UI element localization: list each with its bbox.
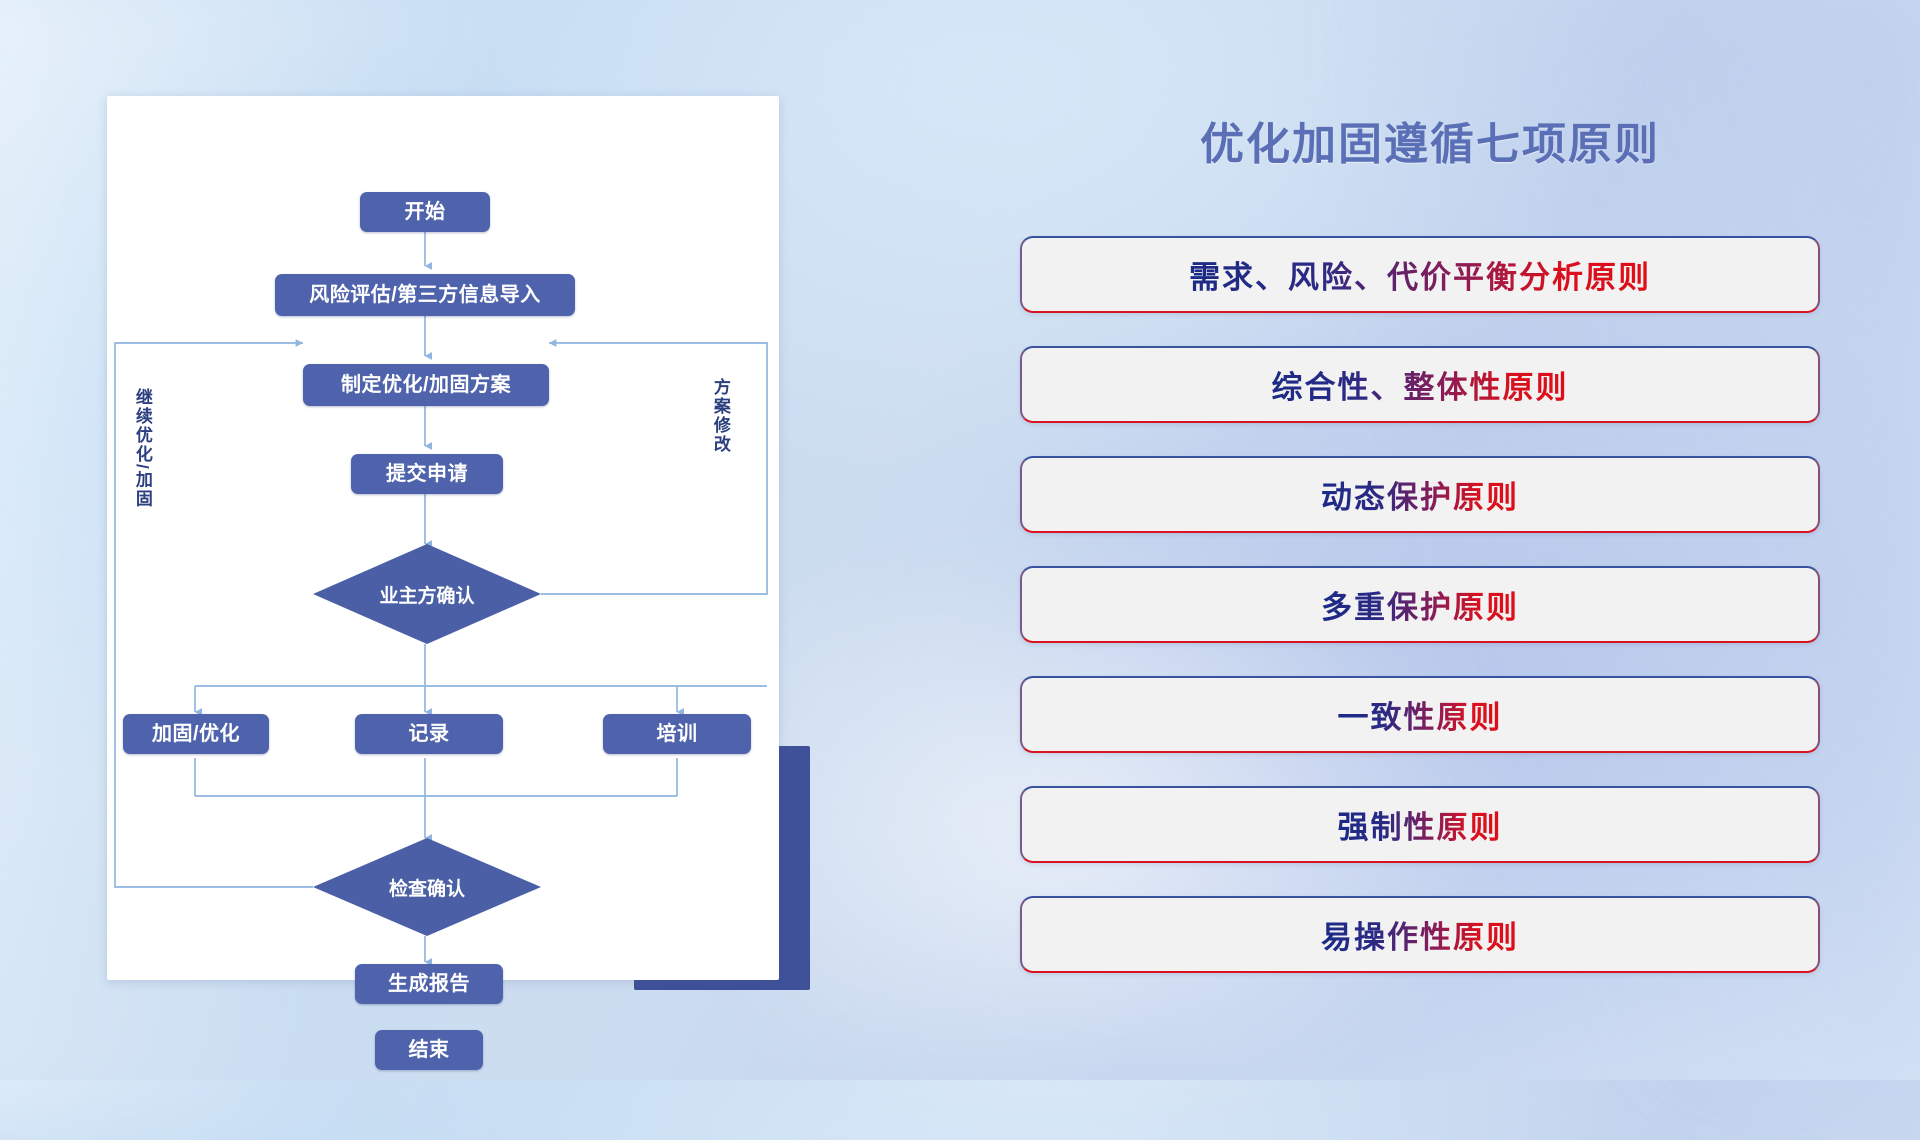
flow-edge-label-left-loop: 继续优化/加固 [133, 388, 151, 509]
principle-card-label: 多重保护原则 [1321, 582, 1519, 627]
flow-node-end[interactable]: 结束 [375, 1030, 483, 1070]
principle-card[interactable]: 易操作性原则 [1020, 896, 1820, 973]
flow-node-owner-confirm-label: 业主方确认 [379, 581, 474, 608]
principle-card-label: 动态保护原则 [1321, 472, 1519, 517]
flow-node-record[interactable]: 记录 [355, 714, 503, 754]
flow-node-owner-confirm[interactable]: 业主方确认 [313, 544, 541, 644]
principle-card-label: 易操作性原则 [1321, 912, 1519, 957]
principle-card-label: 强制性原则 [1338, 802, 1503, 847]
flow-node-submit[interactable]: 提交申请 [351, 454, 503, 494]
flow-node-risk-assessment[interactable]: 风险评估/第三方信息导入 [275, 274, 575, 316]
principle-card-label: 综合性、整体性原则 [1272, 362, 1569, 407]
flowchart: 继续优化/加固 方案修改 开始 风险评估/第三方信息导入 制定优化/加固方案 提… [107, 96, 779, 980]
flow-node-check-confirm-label: 检查确认 [389, 874, 465, 901]
flow-edge-label-right-loop: 方案修改 [711, 378, 729, 454]
flow-node-training[interactable]: 培训 [603, 714, 751, 754]
flow-node-plan[interactable]: 制定优化/加固方案 [303, 364, 549, 406]
flow-node-check-confirm[interactable]: 检查确认 [313, 838, 541, 936]
principle-card-label: 需求、风险、代价平衡分析原则 [1189, 252, 1651, 297]
principle-card[interactable]: 需求、风险、代价平衡分析原则 [1020, 236, 1820, 313]
principles-title: 优化加固遵循七项原则 [1020, 108, 1840, 172]
flow-node-reinforce[interactable]: 加固/优化 [123, 714, 269, 754]
principle-card[interactable]: 一致性原则 [1020, 676, 1820, 753]
flow-node-start[interactable]: 开始 [360, 192, 490, 232]
flowchart-card: 继续优化/加固 方案修改 开始 风险评估/第三方信息导入 制定优化/加固方案 提… [107, 96, 779, 980]
principle-card[interactable]: 强制性原则 [1020, 786, 1820, 863]
principle-card[interactable]: 多重保护原则 [1020, 566, 1820, 643]
principle-card[interactable]: 综合性、整体性原则 [1020, 346, 1820, 423]
flow-node-report[interactable]: 生成报告 [355, 964, 503, 1004]
principles-panel: 优化加固遵循七项原则 需求、风险、代价平衡分析原则 综合性、整体性原则 动态保护… [1020, 0, 1900, 1080]
principle-card[interactable]: 动态保护原则 [1020, 456, 1820, 533]
principles-card-list: 需求、风险、代价平衡分析原则 综合性、整体性原则 动态保护原则 多重保护原则 一… [1020, 236, 1820, 1006]
principle-card-label: 一致性原则 [1338, 692, 1503, 737]
